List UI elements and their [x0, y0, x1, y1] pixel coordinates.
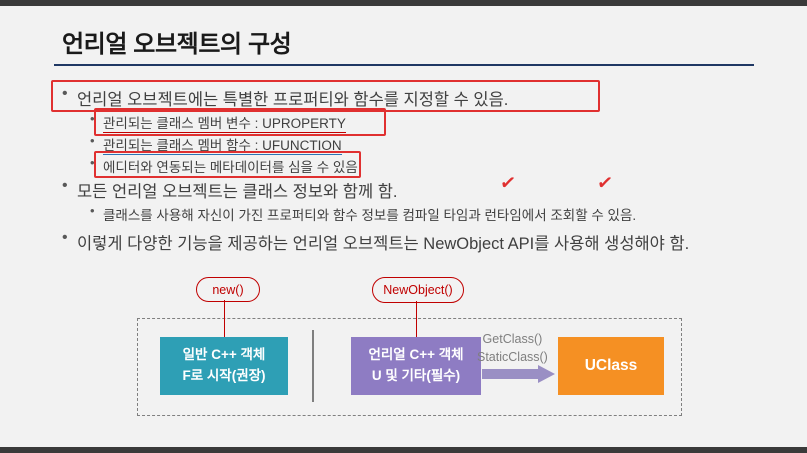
bullet-level2-1: 관리되는 클래스 멤버 변수 : UPROPERTY — [103, 112, 346, 132]
diagram-getclass-label: GetClass() StaticClass() — [477, 330, 548, 366]
bullet-text: 관리되는 클래스 멤버 함수 : UFUNCTION — [103, 138, 342, 155]
bullet-level2-2: 관리되는 클래스 멤버 함수 : UFUNCTION — [103, 134, 342, 154]
diagram-box-unreal-cpp: 언리얼 C++ 객체 U 및 기타(필수) — [351, 337, 481, 395]
callout-label: new() — [212, 283, 243, 297]
bullet-level2-3: 에디터와 연동되는 메타데이터를 심을 수 있음 — [103, 156, 358, 176]
diagram-arrow — [482, 365, 560, 383]
getclass-line-2: StaticClass() — [477, 348, 548, 366]
callout-new-leader — [224, 300, 225, 337]
arrow-head-icon — [538, 365, 555, 383]
bullet-text: 모든 언리얼 오브젝트는 클래스 정보와 함께 함. — [77, 183, 398, 201]
box-line-2: U 및 기타(필수) — [372, 366, 460, 387]
callout-newobject-leader — [416, 301, 417, 337]
bullet-level1-2: 모든 언리얼 오브젝트는 클래스 정보와 함께 함. — [77, 178, 398, 202]
bullet-text: 에디터와 연동되는 메타데이터를 심을 수 있음 — [103, 160, 358, 177]
arrow-body — [482, 369, 540, 379]
diagram-box-uclass: UClass — [558, 337, 664, 395]
bullet-level2-4: 클래스를 사용해 자신이 가진 프로퍼티와 함수 정보를 컴파일 타임과 런타임… — [103, 204, 636, 224]
box-line-1: UClass — [585, 354, 638, 378]
box-line-2: F로 시작(권장) — [182, 366, 265, 387]
diagram-box-plain-cpp: 일반 C++ 객체 F로 시작(권장) — [160, 337, 288, 395]
getclass-line-1: GetClass() — [477, 330, 548, 348]
callout-newobject: NewObject() — [372, 277, 464, 303]
bullet-text: 언리얼 오브젝트에는 특별한 프로퍼티와 함수를 지정할 수 있음. — [77, 91, 508, 109]
title-divider — [54, 64, 754, 66]
callout-new: new() — [196, 277, 260, 302]
bullet-text: 클래스를 사용해 자신이 가진 프로퍼티와 함수 정보를 컴파일 타임과 런타임… — [103, 208, 636, 223]
box-line-1: 언리얼 C++ 객체 — [368, 345, 463, 366]
annotation-check-1: ✓ — [499, 173, 517, 194]
page-title: 언리얼 오브젝트의 구성 — [62, 24, 291, 59]
bullet-text: 관리되는 클래스 멤버 변수 : UPROPERTY — [103, 116, 346, 133]
bullet-text: 이렇게 다양한 기능을 제공하는 언리얼 오브젝트는 NewObject API… — [77, 235, 689, 253]
callout-label: NewObject() — [383, 283, 452, 297]
slide-canvas: 언리얼 오브젝트의 구성 언리얼 오브젝트에는 특별한 프로퍼티와 함수를 지정… — [0, 6, 807, 447]
diagram-divider — [312, 330, 314, 402]
bullet-level1-1: 언리얼 오브젝트에는 특별한 프로퍼티와 함수를 지정할 수 있음. — [77, 86, 508, 110]
bullet-level1-3: 이렇게 다양한 기능을 제공하는 언리얼 오브젝트는 NewObject API… — [77, 230, 689, 254]
box-line-1: 일반 C++ 객체 — [183, 345, 266, 366]
annotation-check-2: ✓ — [596, 173, 614, 194]
